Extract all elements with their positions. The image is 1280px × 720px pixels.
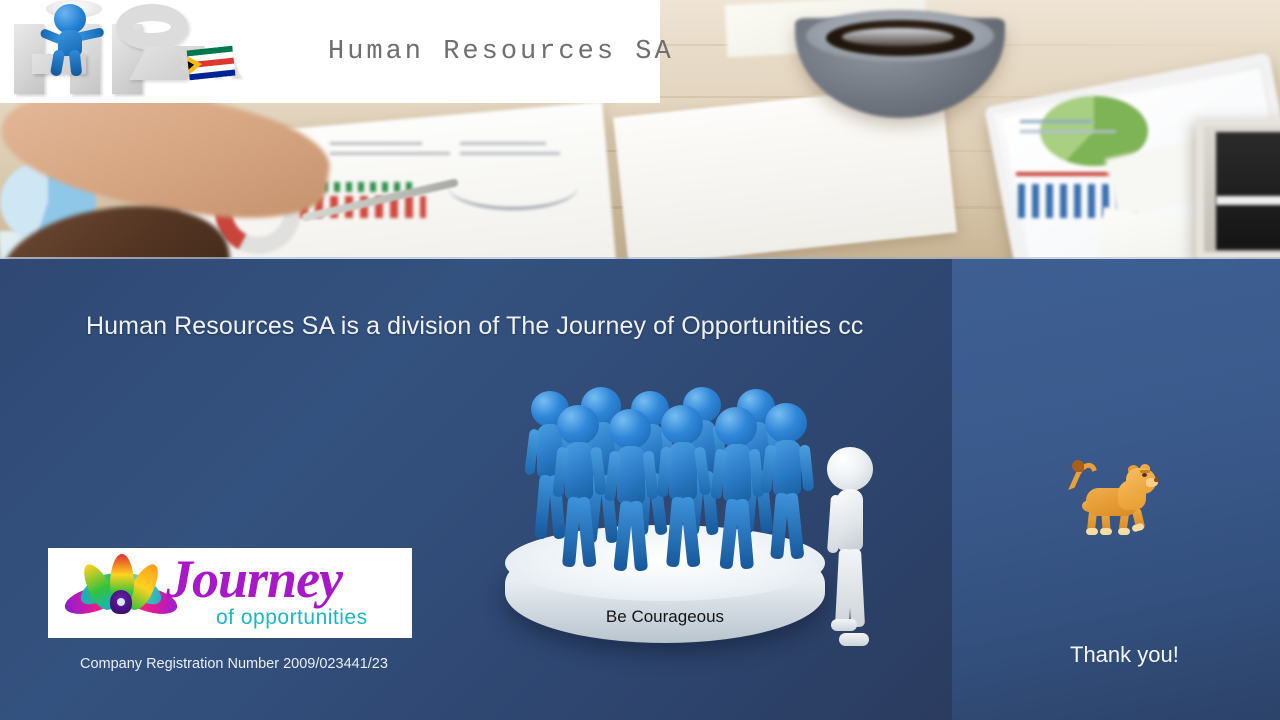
figure-blue	[653, 405, 709, 581]
tagline-text: Human Resources SA is a division of The …	[86, 312, 863, 341]
hr-sa-logo-icon: S A	[0, 2, 300, 102]
journey-wordmark: Journey	[166, 552, 342, 606]
south-africa-flag-icon	[187, 45, 236, 80]
company-registration-text: Company Registration Number 2009/023441/…	[80, 656, 388, 672]
figure-blue	[757, 403, 813, 575]
banner-divider	[0, 257, 1280, 259]
be-courageous-caption: Be Courageous	[495, 607, 835, 627]
company-logo-box: S A Human Resources SA	[0, 0, 660, 103]
journey-subtitle: of opportunities	[216, 606, 368, 630]
presentation-slide: S A Human Resources SA Human Resources S…	[0, 0, 1280, 720]
logo-title-text: Human Resources SA	[328, 37, 674, 67]
lion-cub-icon	[1068, 462, 1164, 550]
thank-you-text: Thank you!	[1070, 642, 1179, 668]
figure-blue	[707, 407, 763, 583]
blue-mascot-figure-icon	[36, 0, 112, 76]
figure-blue	[549, 405, 605, 581]
be-courageous-illustration: Be Courageous	[495, 385, 885, 660]
figure-blue	[601, 409, 657, 587]
rainbow-lotus-icon	[62, 554, 180, 632]
journey-logo-box: Journey of opportunities	[48, 548, 412, 638]
